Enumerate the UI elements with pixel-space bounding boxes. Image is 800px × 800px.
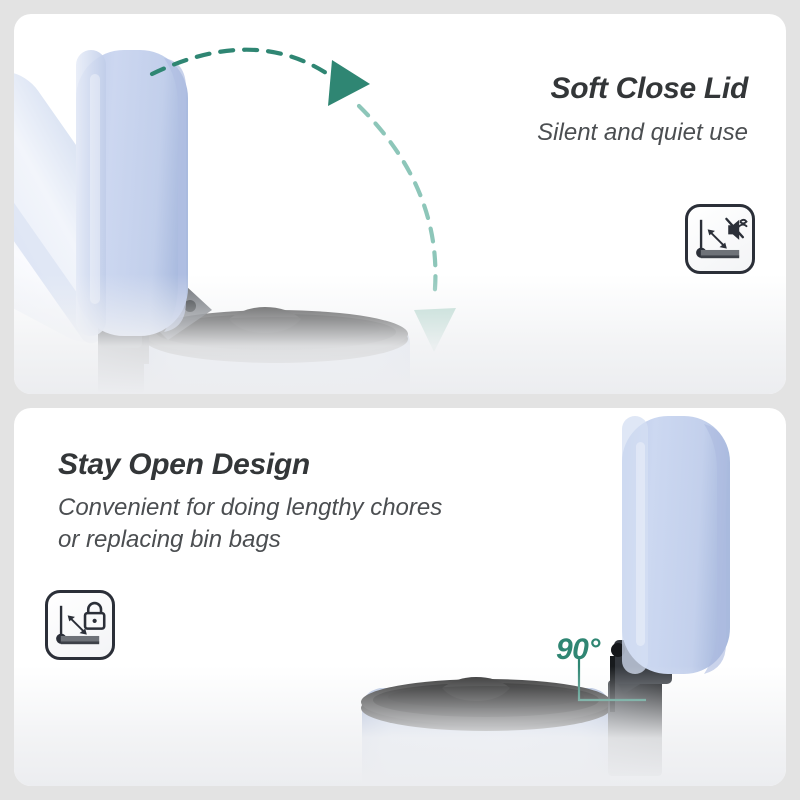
soft-close-badge xyxy=(685,204,755,274)
soft-close-badge-art xyxy=(688,207,752,271)
mute-speaker-icon xyxy=(726,219,746,240)
angle-label-90: 90° xyxy=(556,633,600,667)
soft-close-headline: Soft Close Lid xyxy=(551,72,748,106)
panel-floor-gradient xyxy=(14,274,786,394)
stay-open-headline: Stay Open Design xyxy=(58,448,310,482)
panel-soft-close-content: Soft Close Lid Silent and quiet use xyxy=(14,14,786,394)
arc-arrowhead-upper xyxy=(328,60,370,106)
padlock-icon xyxy=(85,603,104,629)
stay-open-subline: Convenient for doing lengthy chores or r… xyxy=(58,492,442,556)
hinge-arc-icon xyxy=(56,606,99,644)
stay-open-badge-art xyxy=(48,593,112,657)
stay-open-subline-line-1: Convenient for doing lengthy chores xyxy=(58,492,442,524)
panel-floor-gradient xyxy=(14,666,786,786)
stay-open-subline-line-2: or replacing bin bags xyxy=(58,524,442,556)
product-feature-graphic: Soft Close Lid Silent and quiet use xyxy=(0,0,800,800)
panel-soft-close: Soft Close Lid Silent and quiet use xyxy=(14,14,786,394)
lid-open-upright xyxy=(622,416,730,674)
soft-close-subline: Silent and quiet use xyxy=(537,117,748,149)
panel-stay-open-content: Stay Open Design Convenient for doing le… xyxy=(14,408,786,786)
motion-arc-dashed xyxy=(152,50,435,300)
stay-open-badge xyxy=(45,590,115,660)
panel-stay-open: Stay Open Design Convenient for doing le… xyxy=(14,408,786,786)
